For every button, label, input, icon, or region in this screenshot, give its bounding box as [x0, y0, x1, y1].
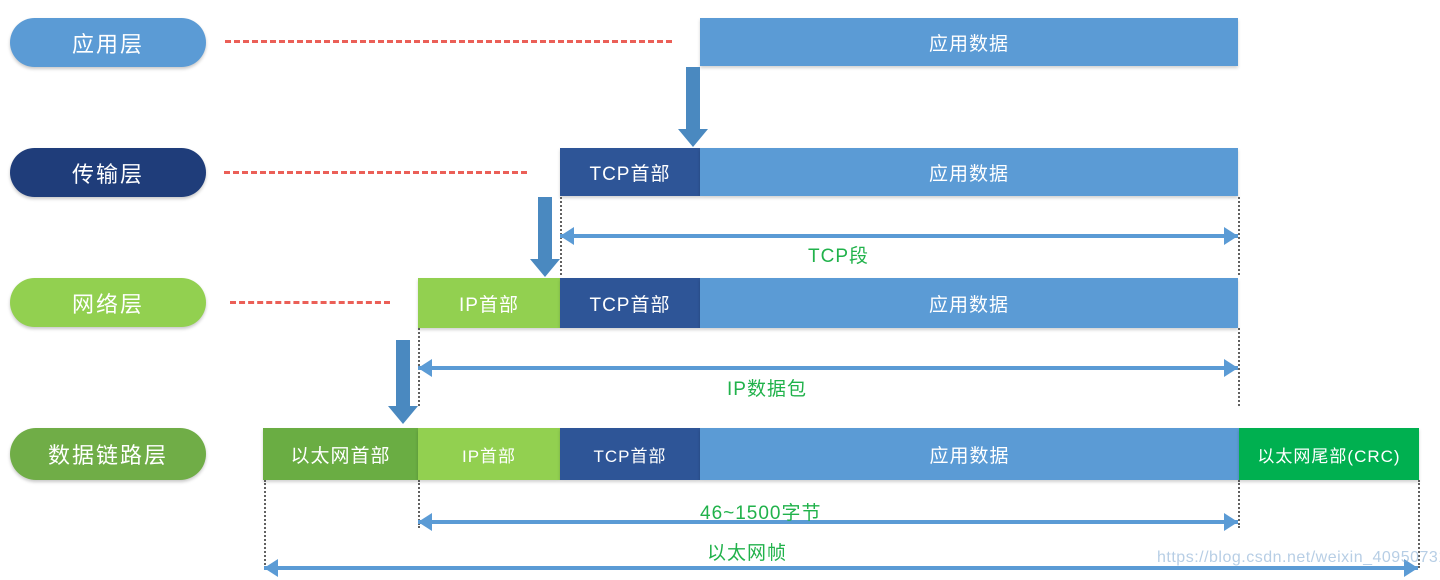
connector-dashed-transport	[224, 171, 527, 174]
guide-ip-packet-right	[1238, 328, 1240, 406]
block-ethernet-trailer-row4: 以太网尾部(CRC)	[1239, 428, 1419, 480]
block-app-data-row1-label: 应用数据	[929, 29, 1009, 56]
block-tcp-header-row3: TCP首部	[560, 278, 700, 328]
measure-arrow-ip-packet	[418, 359, 1238, 377]
encapsulation-arrow-transport-to-network	[528, 197, 562, 277]
block-app-data-row2: 应用数据	[700, 148, 1238, 196]
layer-pill-network[interactable]: 网络层	[10, 278, 206, 327]
block-tcp-header-row4: TCP首部	[560, 428, 700, 480]
block-ip-header-row4-label: IP首部	[462, 442, 516, 467]
block-app-data-row4: 应用数据	[700, 428, 1239, 480]
measure-label-payload-size: 46~1500字节	[700, 498, 822, 525]
encapsulation-arrow-network-to-datalink	[386, 340, 420, 426]
block-app-data-row1: 应用数据	[700, 18, 1238, 66]
layer-pill-application[interactable]: 应用层	[10, 18, 206, 67]
block-ethernet-header-row4-label: 以太网首部	[290, 441, 390, 468]
measure-arrow-payload-size	[418, 513, 1238, 531]
layer-pill-transport[interactable]: 传输层	[10, 148, 206, 197]
block-tcp-header-row2: TCP首部	[560, 148, 700, 196]
block-ip-header-row4: IP首部	[418, 428, 560, 480]
block-tcp-header-row4-label: TCP首部	[594, 442, 667, 467]
encapsulation-arrow-app-to-transport	[676, 67, 710, 147]
measure-arrow-tcp-segment	[560, 227, 1238, 245]
block-app-data-row3-label: 应用数据	[929, 290, 1009, 317]
block-tcp-header-row2-label: TCP首部	[589, 159, 670, 186]
layer-pill-datalink-label: 数据链路层	[48, 438, 168, 470]
block-tcp-header-row3-label: TCP首部	[589, 290, 670, 317]
guide-ethernet-frame-left	[264, 480, 266, 568]
connector-dashed-network	[230, 301, 390, 304]
guide-tcp-segment-right	[1238, 197, 1240, 275]
block-app-data-row2-label: 应用数据	[929, 159, 1009, 186]
block-ip-header-row3-label: IP首部	[459, 290, 519, 317]
connector-dashed-application	[225, 40, 672, 43]
encapsulation-diagram: 应用层 应用数据 传输层 TCP首部 应用数据 TCP段 网络层 IP首部 TC…	[0, 0, 1440, 580]
measure-label-ethernet-frame: 以太网帧	[707, 538, 787, 565]
layer-pill-network-label: 网络层	[72, 287, 144, 319]
layer-pill-datalink[interactable]: 数据链路层	[10, 428, 206, 480]
block-ethernet-header-row4: 以太网首部	[263, 428, 418, 480]
measure-label-ip-packet: IP数据包	[727, 374, 807, 401]
block-ip-header-row3: IP首部	[418, 278, 560, 328]
layer-pill-transport-label: 传输层	[72, 157, 144, 189]
layer-pill-application-label: 应用层	[72, 27, 144, 59]
block-app-data-row3: 应用数据	[700, 278, 1238, 328]
block-app-data-row4-label: 应用数据	[929, 441, 1009, 468]
watermark: https://blog.csdn.net/weixin_40950731	[1157, 549, 1440, 567]
measure-label-tcp-segment: TCP段	[808, 241, 869, 268]
guide-payload-right	[1238, 480, 1240, 528]
block-ethernet-trailer-row4-label: 以太网尾部(CRC)	[1257, 442, 1400, 467]
